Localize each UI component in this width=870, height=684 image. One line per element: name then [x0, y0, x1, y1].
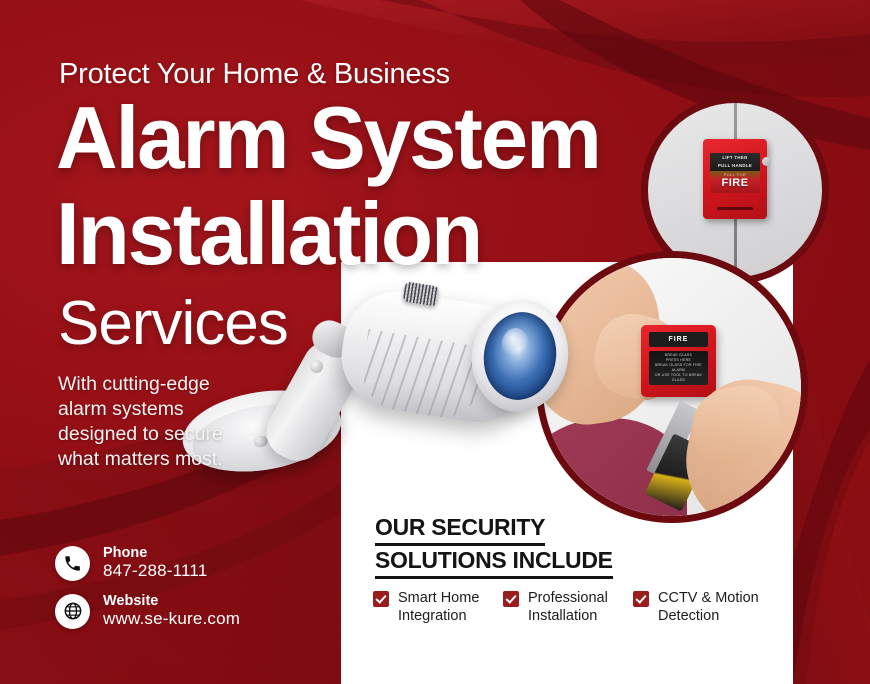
- solutions-heading: OUR SECURITY SOLUTIONS INCLUDE: [375, 513, 613, 579]
- page-title-line-3: Services: [58, 288, 288, 359]
- contact-phone-text: Phone 847-288-1111: [103, 545, 207, 581]
- pull-station-key-lock: [762, 157, 771, 166]
- poster-canvas: LIFT THEN PULL HANDLE PULL FOR FIRE FIRE…: [0, 0, 870, 684]
- instruction-line-2: PULL HANDLE: [718, 163, 752, 168]
- camera-arm-screw: [310, 360, 323, 373]
- checkbox-icon: [633, 591, 649, 607]
- instruction-line-1: LIFT THEN: [722, 155, 747, 160]
- fire-pull-station-photo: LIFT THEN PULL HANDLE PULL FOR FIRE: [648, 103, 822, 277]
- contact-website[interactable]: Website www.se-kure.com: [55, 593, 240, 629]
- glass-line-4: OR USE TOOL TO BREAK GLASS: [655, 373, 702, 382]
- contact-phone[interactable]: Phone 847-288-1111: [55, 545, 207, 581]
- contact-website-label: Website: [103, 593, 240, 609]
- pull-station-slot: [717, 207, 753, 210]
- glass-line-3: BREAK GLASS FOR FIRE ALARM: [655, 363, 702, 372]
- list-item[interactable]: Professional Installation: [503, 590, 633, 625]
- list-item[interactable]: CCTV & Motion Detection: [633, 590, 773, 625]
- contact-phone-label: Phone: [103, 545, 207, 561]
- solutions-checklist: Smart Home Integration Professional Inst…: [373, 590, 773, 625]
- page-title-line-2: Installation: [56, 192, 481, 276]
- phone-icon: [55, 546, 90, 581]
- call-point-fire-label: FIRE: [649, 332, 709, 348]
- fire-call-point-device: FIRE BREAK GLASS PRESS HERE BREAK GLASS …: [641, 325, 716, 397]
- contact-website-value: www.se-kure.com: [103, 609, 240, 629]
- list-item-label: CCTV & Motion Detection: [658, 590, 773, 625]
- fire-text: FIRE: [710, 177, 760, 189]
- solutions-heading-line-2: SOLUTIONS INCLUDE: [375, 546, 613, 579]
- eyebrow-text: Protect Your Home & Business: [59, 58, 450, 91]
- tagline-text: With cutting-edge alarm systems designed…: [58, 372, 233, 472]
- pull-station-fire-panel: PULL FOR FIRE: [710, 171, 760, 193]
- contact-phone-value: 847-288-1111: [103, 561, 207, 581]
- page-title-line-1: Alarm System: [56, 96, 600, 180]
- list-item-label: Professional Installation: [528, 590, 633, 625]
- pull-station-instruction: LIFT THEN PULL HANDLE: [710, 153, 760, 171]
- glass-line-1: BREAK GLASS: [665, 353, 692, 357]
- checkbox-icon: [373, 591, 389, 607]
- list-item[interactable]: Smart Home Integration: [373, 590, 503, 625]
- call-point-glass-label: BREAK GLASS PRESS HERE BREAK GLASS FOR F…: [649, 351, 709, 385]
- checkbox-icon: [503, 591, 519, 607]
- pull-station-device: LIFT THEN PULL HANDLE PULL FOR FIRE: [703, 139, 767, 219]
- contact-website-text: Website www.se-kure.com: [103, 593, 240, 629]
- globe-icon: [55, 594, 90, 629]
- solutions-heading-line-1: OUR SECURITY: [375, 513, 545, 546]
- glass-line-2: PRESS HERE: [666, 358, 691, 362]
- list-item-label: Smart Home Integration: [398, 590, 503, 625]
